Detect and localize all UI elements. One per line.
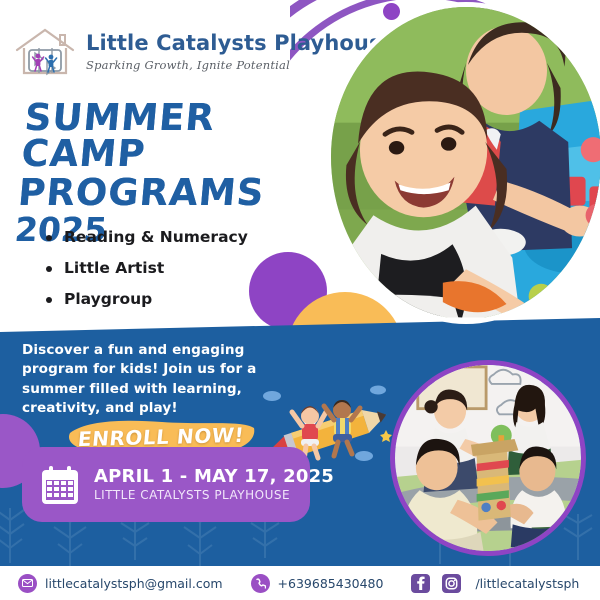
envelope-glyph bbox=[22, 579, 33, 587]
instagram-glyph bbox=[445, 577, 458, 590]
list-item: Reading & Numeracy bbox=[46, 228, 248, 246]
phone-icon bbox=[251, 574, 270, 593]
footer-social-handle: /littlecatalystsph bbox=[475, 576, 579, 591]
photo-children-classroom bbox=[390, 360, 586, 556]
phone-glyph bbox=[255, 578, 266, 589]
schedule-banner: APRIL 1 - MAY 17, 2025 LITTLE CATALYSTS … bbox=[22, 447, 310, 522]
summer-camp-poster: Little Catalysts Playhouse Sparking Grow… bbox=[0, 0, 600, 600]
schedule-dates: APRIL 1 - MAY 17, 2025 bbox=[94, 467, 334, 487]
list-item: Little Artist bbox=[46, 259, 248, 277]
facebook-icon[interactable] bbox=[411, 574, 430, 593]
facebook-glyph bbox=[416, 576, 425, 590]
footer-email[interactable]: littlecatalystsph@gmail.com bbox=[18, 574, 223, 593]
footer-social[interactable]: /littlecatalystsph bbox=[411, 574, 579, 593]
instagram-icon[interactable] bbox=[442, 574, 461, 593]
photo-content bbox=[395, 365, 581, 551]
house-with-children-icon bbox=[14, 26, 76, 78]
footer-email-text: littlecatalystsph@gmail.com bbox=[45, 576, 223, 591]
schedule-location: LITTLE CATALYSTS PLAYHOUSE bbox=[94, 488, 334, 502]
footer-phone-text: +639685430480 bbox=[278, 576, 384, 591]
footer-phone[interactable]: +639685430480 bbox=[251, 574, 384, 593]
page-title: SUMMER CAMP PROGRAMS 2025 bbox=[14, 100, 327, 246]
headline-line-1: SUMMER CAMP bbox=[20, 100, 326, 171]
envelope-icon bbox=[18, 574, 37, 593]
photo-content bbox=[331, 7, 600, 318]
photo-children-water-table bbox=[326, 2, 600, 324]
list-item: Playgroup bbox=[46, 290, 248, 308]
headline-line-2: PROGRAMS bbox=[16, 171, 266, 214]
calendar-icon bbox=[40, 464, 80, 506]
program-list: Reading & Numeracy Little Artist Playgro… bbox=[46, 228, 248, 321]
footer-contact-bar: littlecatalystsph@gmail.com +63968543048… bbox=[0, 566, 600, 600]
